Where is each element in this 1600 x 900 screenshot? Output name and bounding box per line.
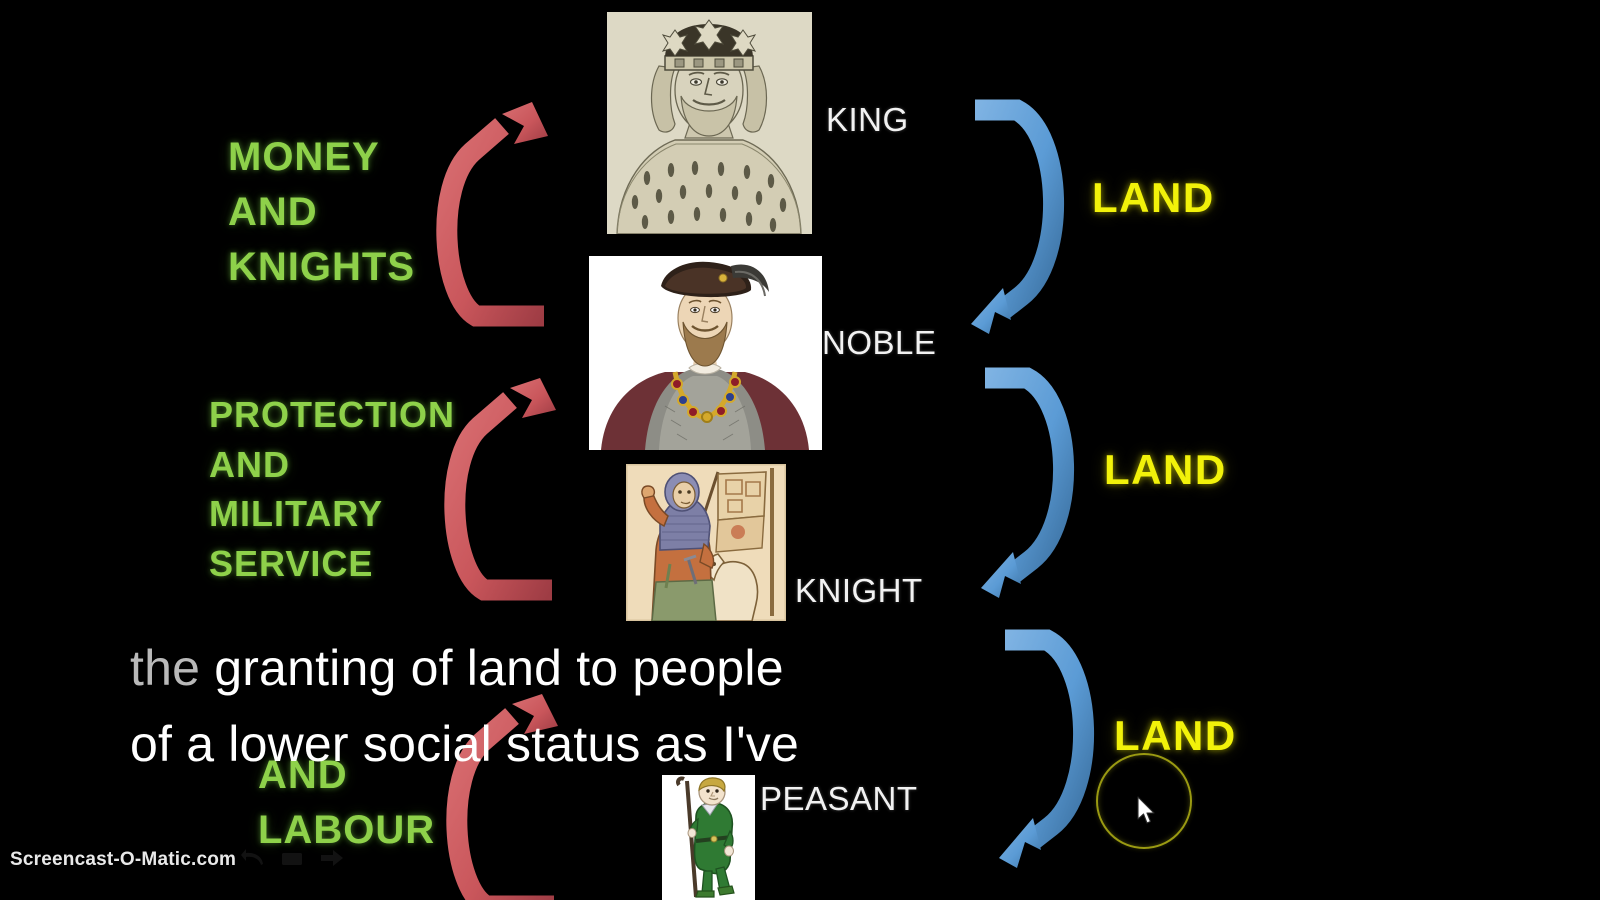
blue-arrow-land-king-to-noble [955,100,1085,330]
portrait-king [607,12,812,234]
portrait-noble [589,256,822,450]
flow-label-line: MILITARY [209,489,455,539]
rectangle-icon[interactable] [281,851,303,867]
rank-label-king: KING [826,101,909,139]
subtitle-caption: the granting of land to people of a lowe… [130,630,1030,782]
flow-label-money-and-knights: MONEY AND KNIGHTS [228,130,415,296]
flow-label-line: AND [209,440,455,490]
arrow-right-icon[interactable] [320,849,344,867]
flow-label-land-noble-to-knight: LAND [1104,446,1227,494]
flow-label-protection-and-military-service: PROTECTION AND MILITARY SERVICE [209,390,455,589]
mouse-cursor [1136,796,1158,826]
screencast-watermark: Screencast-O-Matic.com [10,849,236,871]
blue-arrow-land-noble-to-knight [965,368,1095,593]
flow-label-land-knight-to-peasant: LAND [1114,712,1237,760]
undo-icon[interactable] [240,848,266,868]
subtitle-line-1: the granting of land to people [130,630,1030,706]
portrait-knight [626,464,786,621]
portrait-peasant [662,775,755,900]
video-frame: KING [0,0,1600,900]
subtitle-spoken-word: the [130,640,200,696]
rank-label-knight: KNIGHT [795,572,923,610]
red-arrow-protection-and-military-service [448,378,578,603]
subtitle-line-2: of a lower social status as I've [130,706,1030,782]
flow-label-line: MONEY [228,130,415,185]
rank-label-peasant: PEASANT [760,780,918,818]
subtitle-rest-line-1: granting of land to people [200,640,784,696]
red-arrow-money-and-knights [440,100,570,330]
rank-label-noble: NOBLE [822,324,936,362]
flow-label-line: AND [228,185,415,240]
flow-label-line: KNIGHTS [228,240,415,295]
flow-label-land-king-to-noble: LAND [1092,174,1215,222]
flow-label-line: SERVICE [209,539,455,589]
flow-label-line: PROTECTION [209,390,455,440]
